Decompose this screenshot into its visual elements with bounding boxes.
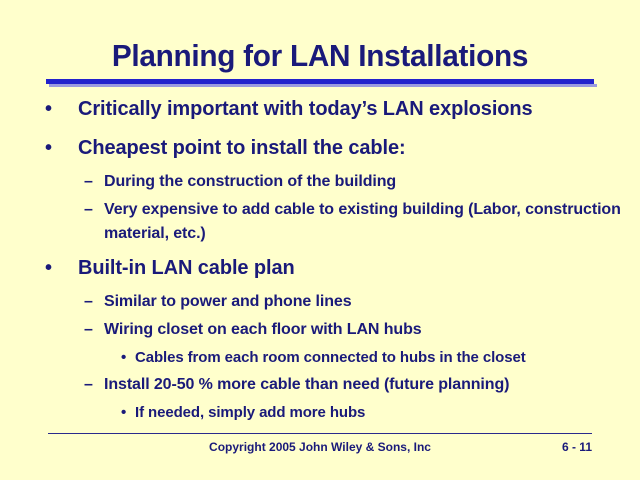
list-item: – Very expensive to add cable to existin… (0, 198, 640, 246)
bullet-marker-icon: – (84, 290, 93, 314)
bullet-marker-icon: – (84, 373, 93, 397)
title-block: Planning for LAN Installations (0, 38, 640, 74)
slide: Planning for LAN Installations • Critica… (0, 0, 640, 480)
title-divider-shadow (49, 84, 597, 87)
list-item: – Similar to power and phone lines (0, 290, 640, 314)
list-item-text: Critically important with today’s LAN ex… (78, 94, 640, 124)
bullet-marker-icon: • (121, 401, 126, 424)
bullet-list: • Critically important with today’s LAN … (0, 94, 640, 424)
title-divider (46, 79, 594, 88)
footer-divider (48, 433, 592, 434)
list-item: • Cables from each room connected to hub… (0, 346, 640, 369)
list-item-text: Install 20-50 % more cable than need (fu… (104, 373, 640, 397)
list-item: – Install 20-50 % more cable than need (… (0, 373, 640, 397)
list-item-text: Built-in LAN cable plan (78, 253, 640, 283)
list-item-text: If needed, simply add more hubs (135, 401, 640, 424)
footer-copyright: Copyright 2005 John Wiley & Sons, Inc (48, 438, 592, 456)
list-item: • If needed, simply add more hubs (0, 401, 640, 424)
footer-page-number: 6 - 11 (562, 438, 592, 456)
bullet-marker-icon: – (84, 318, 93, 342)
list-item: • Built-in LAN cable plan (0, 253, 640, 283)
bullet-marker-icon: • (45, 253, 52, 283)
list-item-text: Very expensive to add cable to existing … (104, 198, 640, 246)
list-item: • Critically important with today’s LAN … (0, 94, 640, 124)
list-item-text: During the construction of the building (104, 170, 640, 194)
footer: Copyright 2005 John Wiley & Sons, Inc 6 … (48, 438, 592, 456)
list-item: – Wiring closet on each floor with LAN h… (0, 318, 640, 342)
list-item-text: Cheapest point to install the cable: (78, 133, 640, 163)
list-item-text: Wiring closet on each floor with LAN hub… (104, 318, 640, 342)
bullet-marker-icon: • (121, 346, 126, 369)
list-item: • Cheapest point to install the cable: (0, 133, 640, 163)
list-item: – During the construction of the buildin… (0, 170, 640, 194)
bullet-marker-icon: – (84, 198, 93, 222)
list-item-text: Cables from each room connected to hubs … (135, 346, 640, 369)
list-item-text: Similar to power and phone lines (104, 290, 640, 314)
bullet-marker-icon: • (45, 94, 52, 124)
bullet-marker-icon: • (45, 133, 52, 163)
bullet-marker-icon: – (84, 170, 93, 194)
page-title: Planning for LAN Installations (13, 38, 627, 74)
